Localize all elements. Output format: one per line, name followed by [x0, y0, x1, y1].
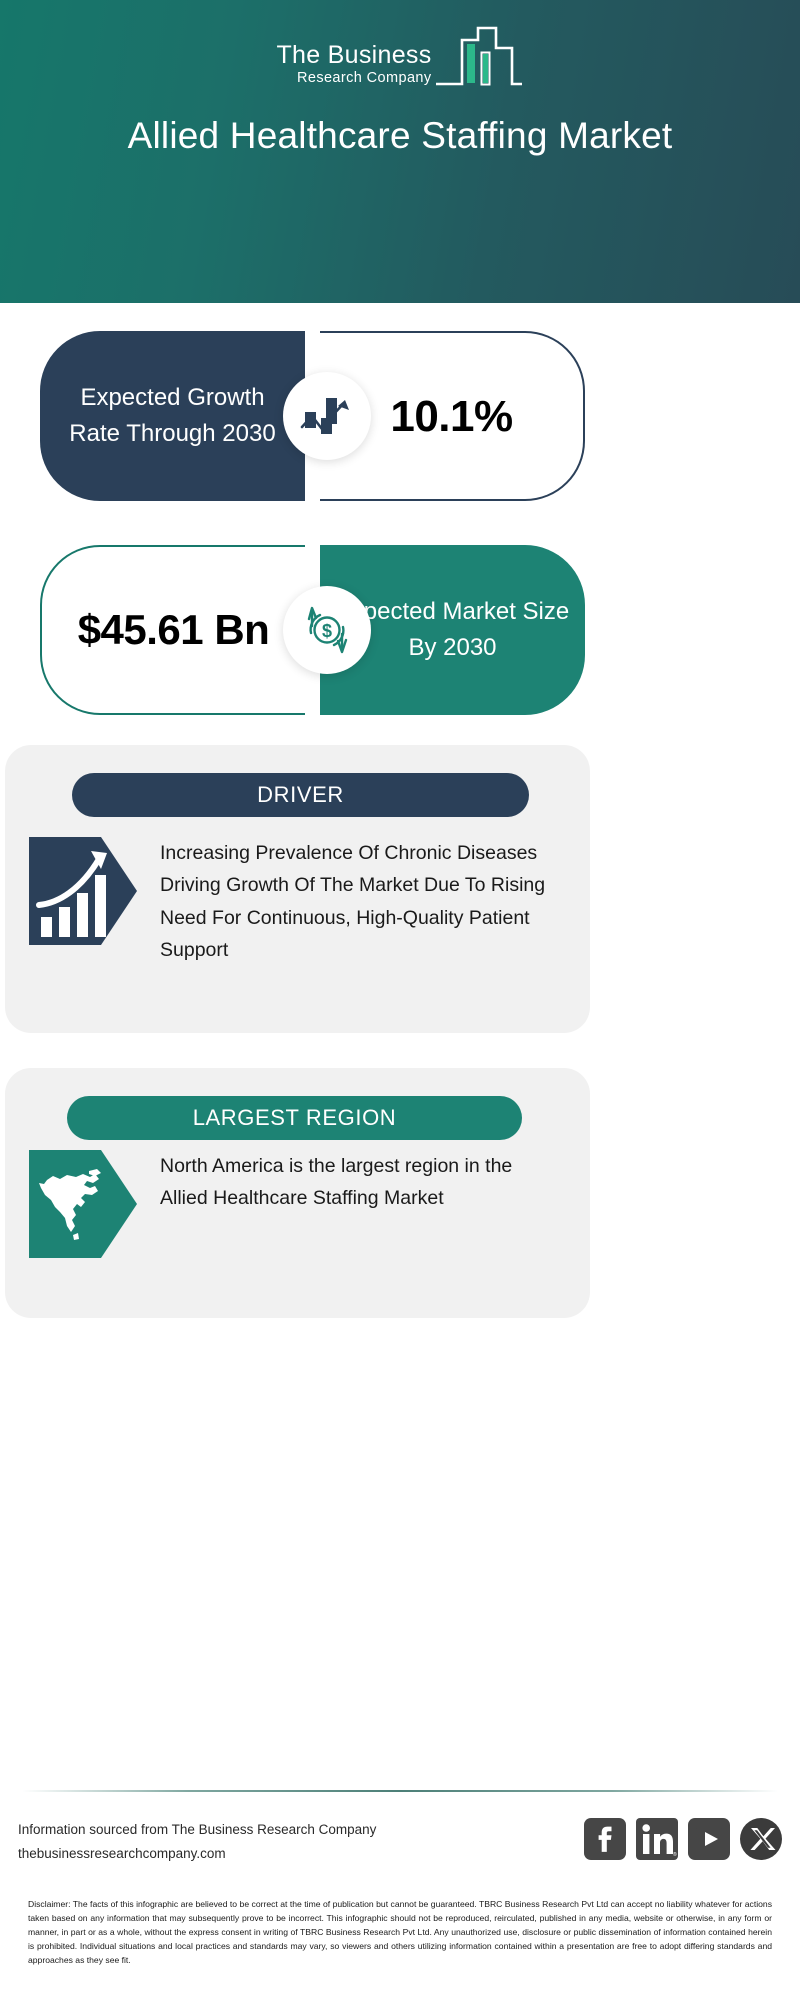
north-america-map-icon: [5, 1150, 160, 1258]
driver-panel: DRIVER Increasing Prevalence Of Chronic …: [5, 745, 590, 1033]
growth-bar-arrow-icon: [283, 372, 371, 460]
page-title: Allied Healthcare Staffing Market: [60, 112, 740, 159]
header-banner: The Business Research Company Allied Hea…: [0, 0, 800, 303]
source-line-2[interactable]: thebusinessresearchcompany.com: [18, 1842, 438, 1866]
brand-logo-text: The Business Research Company: [276, 43, 431, 94]
facebook-icon[interactable]: [584, 1818, 626, 1860]
stat-card-value-half: $45.61 Bn: [40, 545, 305, 715]
rising-bar-chart-arrow-icon: [5, 837, 160, 966]
source-line-1: Information sourced from The Business Re…: [18, 1818, 438, 1842]
driver-pill: DRIVER: [72, 773, 529, 817]
brand-logo: The Business Research Company: [0, 22, 800, 94]
disclaimer-text: Disclaimer: The facts of this infographi…: [28, 1898, 772, 1968]
dollar-circulation-icon: $: [283, 586, 371, 674]
stat-card-market-size: $45.61 Bn Expected Market Size By 2030 $: [40, 545, 585, 715]
driver-body: Increasing Prevalence Of Chronic Disease…: [5, 837, 590, 966]
largest-region-pill-label: LARGEST REGION: [193, 1105, 397, 1131]
stat-card-label-half: Expected Growth Rate Through 2030: [40, 331, 305, 501]
brand-name-secondary: Research Company: [276, 68, 431, 88]
driver-description: Increasing Prevalence Of Chronic Disease…: [160, 837, 590, 966]
svg-text:®: ®: [673, 1851, 677, 1858]
stat-value: 10.1%: [380, 389, 522, 444]
bar-chart-logo-mark: [434, 22, 524, 94]
largest-region-description: North America is the largest region in t…: [160, 1150, 590, 1258]
stat-value: $45.61 Bn: [68, 604, 280, 657]
brand-name-primary: The Business: [276, 43, 431, 68]
largest-region-body: North America is the largest region in t…: [5, 1150, 590, 1258]
footer-divider: [22, 1790, 778, 1792]
svg-text:$: $: [322, 621, 332, 641]
stat-card-growth-rate: Expected Growth Rate Through 2030 10.1%: [40, 331, 585, 501]
driver-pill-label: DRIVER: [257, 782, 344, 808]
largest-region-pill: LARGEST REGION: [67, 1096, 522, 1140]
social-links: ®: [584, 1818, 782, 1860]
linkedin-icon[interactable]: ®: [636, 1818, 678, 1860]
largest-region-panel: LARGEST REGION North America is the larg…: [5, 1068, 590, 1318]
source-credit: Information sourced from The Business Re…: [18, 1818, 438, 1865]
stat-label: Expected Growth Rate Through 2030: [40, 380, 305, 451]
youtube-icon[interactable]: [688, 1818, 730, 1860]
x-twitter-icon[interactable]: [740, 1818, 782, 1860]
